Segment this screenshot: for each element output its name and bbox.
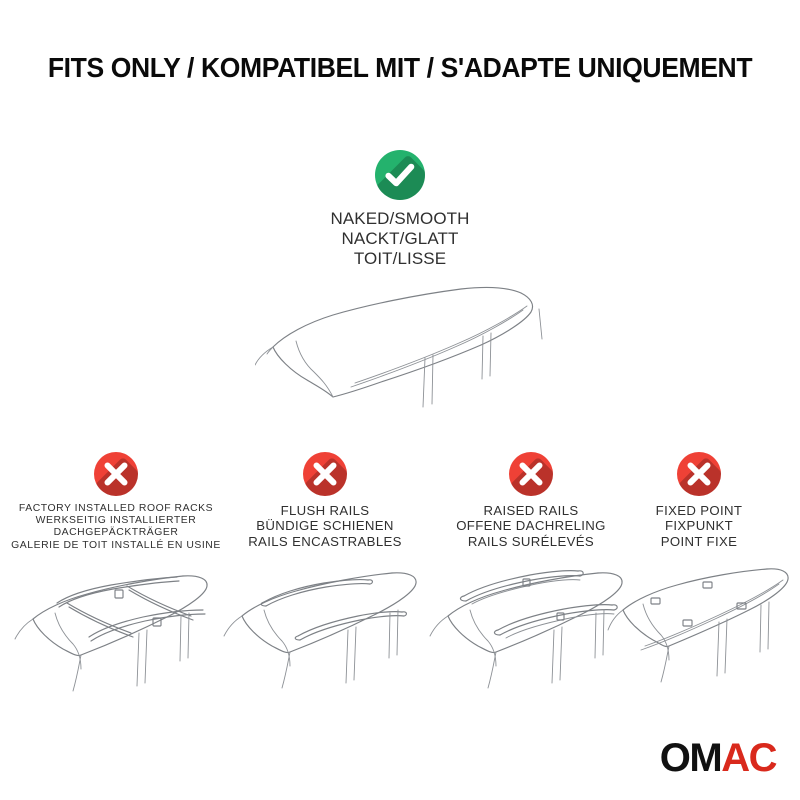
rejected-item-raised-rails: RAISED RAILS OFFENE DACHRELING RAILS SUR…	[428, 452, 634, 698]
rejected-label-line-1: FACTORY INSTALLED ROOF RACKS	[11, 503, 221, 515]
rejected-label-line-3: RAILS ENCASTRABLES	[248, 534, 402, 549]
rejected-label-line-2: BÜNDIGE SCHIENEN	[248, 518, 402, 533]
rejected-label-line-2: OFFENE DACHRELING	[456, 518, 606, 533]
approved-label-line-2: NACKT/GLATT	[330, 229, 469, 249]
check-circle-icon	[375, 150, 425, 200]
check-glyph	[375, 150, 425, 200]
x-circle-icon	[509, 452, 553, 496]
rejected-label-line-1: FLUSH RAILS	[248, 503, 402, 518]
approved-roof-type: NAKED/SMOOTH NACKT/GLATT TOIT/LISSE	[0, 150, 800, 409]
omac-logo-part-one: OM	[660, 736, 721, 780]
rejected-label-line-3: RAILS SURÉLEVÉS	[456, 534, 606, 549]
car-roof-raised-rails-illustration	[426, 558, 636, 698]
approved-label-line-3: TOIT/LISSE	[330, 249, 469, 269]
approved-label-line-1: NAKED/SMOOTH	[330, 209, 469, 229]
x-glyph	[509, 452, 553, 496]
rejected-item-fixed-point: FIXED POINT FIXPUNKT POINT FIXE	[610, 452, 788, 698]
car-roof-factory-roof-racks-illustration	[11, 561, 221, 701]
car-roof-flush-rails-illustration	[220, 558, 430, 698]
rejected-item-flush-rails: FLUSH RAILS BÜNDIGE SCHIENEN RAILS ENCAS…	[222, 452, 428, 698]
x-circle-icon	[303, 452, 347, 496]
rejected-label: RAISED RAILS OFFENE DACHRELING RAILS SUR…	[456, 503, 606, 549]
x-glyph	[94, 452, 138, 496]
omac-logo-part-two: AC	[721, 736, 776, 780]
approved-label: NAKED/SMOOTH NACKT/GLATT TOIT/LISSE	[330, 209, 469, 269]
rejected-label: FLUSH RAILS BÜNDIGE SCHIENEN RAILS ENCAS…	[248, 503, 402, 549]
rejected-label-line-3: POINT FIXE	[656, 534, 743, 549]
rejected-label-line-1: RAISED RAILS	[456, 503, 606, 518]
rejected-label-line-3: DACHGEPÄCKTRÄGER	[11, 527, 221, 539]
x-circle-icon	[94, 452, 138, 496]
rejected-label-line-2: FIXPUNKT	[656, 518, 743, 533]
rejected-item-factory-roof-racks: FACTORY INSTALLED ROOF RACKS WERKSEITIG …	[0, 452, 232, 701]
page-title: FITS ONLY / KOMPATIBEL MIT / S'ADAPTE UN…	[14, 52, 786, 84]
omac-logo: OMAC	[660, 738, 776, 778]
x-circle-icon	[677, 452, 721, 496]
car-roof-naked-smooth-illustration	[255, 279, 545, 409]
rejected-label: FACTORY INSTALLED ROOF RACKS WERKSEITIG …	[11, 503, 221, 552]
x-glyph	[677, 452, 721, 496]
rejected-label: FIXED POINT FIXPUNKT POINT FIXE	[656, 503, 743, 549]
rejected-label-line-4: GALERIE DE TOIT INSTALLÉ EN USINE	[11, 540, 221, 552]
car-roof-fixed-point-illustration	[607, 558, 792, 698]
rejected-label-line-1: FIXED POINT	[656, 503, 743, 518]
x-glyph	[303, 452, 347, 496]
rejected-label-line-2: WERKSEITIG INSTALLIERTER	[11, 515, 221, 527]
